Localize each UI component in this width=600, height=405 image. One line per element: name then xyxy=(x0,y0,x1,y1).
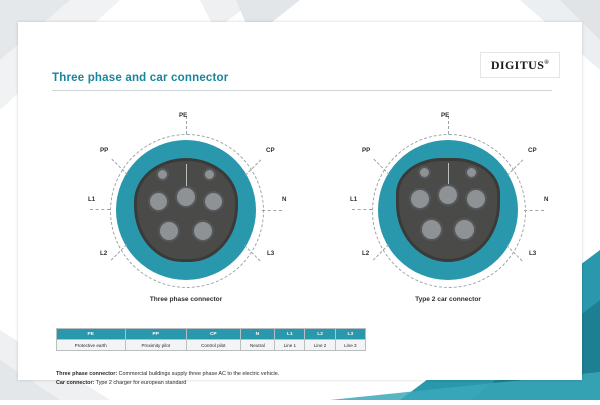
cell-cp: Control pilot xyxy=(187,340,241,351)
label-cp: CP xyxy=(266,147,275,154)
col-header-n: N xyxy=(240,329,275,340)
pin-pp xyxy=(418,166,431,179)
digitus-logo: DIGITUS® xyxy=(480,52,560,78)
label-pe: PE xyxy=(441,112,449,119)
label-n: N xyxy=(544,196,548,203)
pin-l2 xyxy=(158,220,180,242)
note-three-phase-lead: Three phase connector: xyxy=(56,371,117,377)
center-guide-line xyxy=(448,163,449,185)
table-row: Protective earth Proximity pilot Control… xyxy=(57,340,366,351)
note-car-connector-text: Type 2 charger for european standard xyxy=(94,380,186,386)
pin-pe xyxy=(175,186,197,208)
diagram-type-2-car-connector: PE PP CP L1 N L2 L3 Type 2 car connector xyxy=(348,118,548,298)
footnotes: Three phase connector: Commercial buildi… xyxy=(56,370,279,389)
col-header-cp: CP xyxy=(187,329,241,340)
leader-l1 xyxy=(352,209,372,210)
label-pe: PE xyxy=(179,112,187,119)
table-header-row: PE PP CP N L1 L2 L3 xyxy=(57,329,366,340)
diagram-three-phase-connector: PE PP CP L1 N L2 L3 Three phase connecto… xyxy=(86,118,286,298)
label-cp: CP xyxy=(528,147,537,154)
pin-cp xyxy=(465,166,478,179)
page-title: Three phase and car connector xyxy=(52,72,228,84)
col-header-l1: L1 xyxy=(275,329,305,340)
label-l3: L3 xyxy=(267,250,274,257)
col-header-l3: L3 xyxy=(335,329,365,340)
label-pp: PP xyxy=(362,147,370,154)
connector-body xyxy=(396,158,500,262)
pin-legend-table: PE PP CP N L1 L2 L3 Protective earth Pro… xyxy=(56,328,366,351)
label-n: N xyxy=(282,196,286,203)
cell-n: Neutral xyxy=(240,340,275,351)
cell-l2: Line 2 xyxy=(305,340,335,351)
label-l2: L2 xyxy=(100,250,107,257)
pin-pp xyxy=(156,168,169,181)
note-three-phase: Three phase connector: Commercial buildi… xyxy=(56,370,279,379)
pin-n xyxy=(203,191,224,212)
logo-wordmark: DIGITUS® xyxy=(491,58,549,73)
col-header-pe: PE xyxy=(57,329,126,340)
note-three-phase-text: Commercial buildings supply three phase … xyxy=(117,371,279,377)
cell-pe: Protective earth xyxy=(57,340,126,351)
cell-l1: Line 1 xyxy=(275,340,305,351)
pin-l1 xyxy=(148,191,169,212)
pin-pe xyxy=(437,184,459,206)
pin-cp xyxy=(203,168,216,181)
col-header-pp: PP xyxy=(125,329,187,340)
title-divider xyxy=(52,90,552,91)
pin-l3 xyxy=(192,220,214,242)
leader-n xyxy=(524,210,544,211)
label-pp: PP xyxy=(100,147,108,154)
note-car-connector: Car connector: Type 2 charger for europe… xyxy=(56,379,279,388)
label-l3: L3 xyxy=(529,250,536,257)
label-l2: L2 xyxy=(362,250,369,257)
cell-l3: Line 3 xyxy=(335,340,365,351)
label-l1: L1 xyxy=(88,196,95,203)
pin-l3 xyxy=(453,218,476,241)
slide-card: DIGITUS® Three phase and car connector xyxy=(18,22,582,380)
diagram-caption: Three phase connector xyxy=(86,296,286,303)
pin-n xyxy=(465,188,487,210)
pin-l2 xyxy=(420,218,443,241)
cell-pp: Proximity pilot xyxy=(125,340,187,351)
diagram-caption: Type 2 car connector xyxy=(348,296,548,303)
note-car-connector-lead: Car connector: xyxy=(56,380,94,386)
leader-n xyxy=(262,210,282,211)
label-l1: L1 xyxy=(350,196,357,203)
leader-l1 xyxy=(90,209,110,210)
pin-l1 xyxy=(409,188,431,210)
col-header-l2: L2 xyxy=(305,329,335,340)
connector-body xyxy=(134,158,238,262)
